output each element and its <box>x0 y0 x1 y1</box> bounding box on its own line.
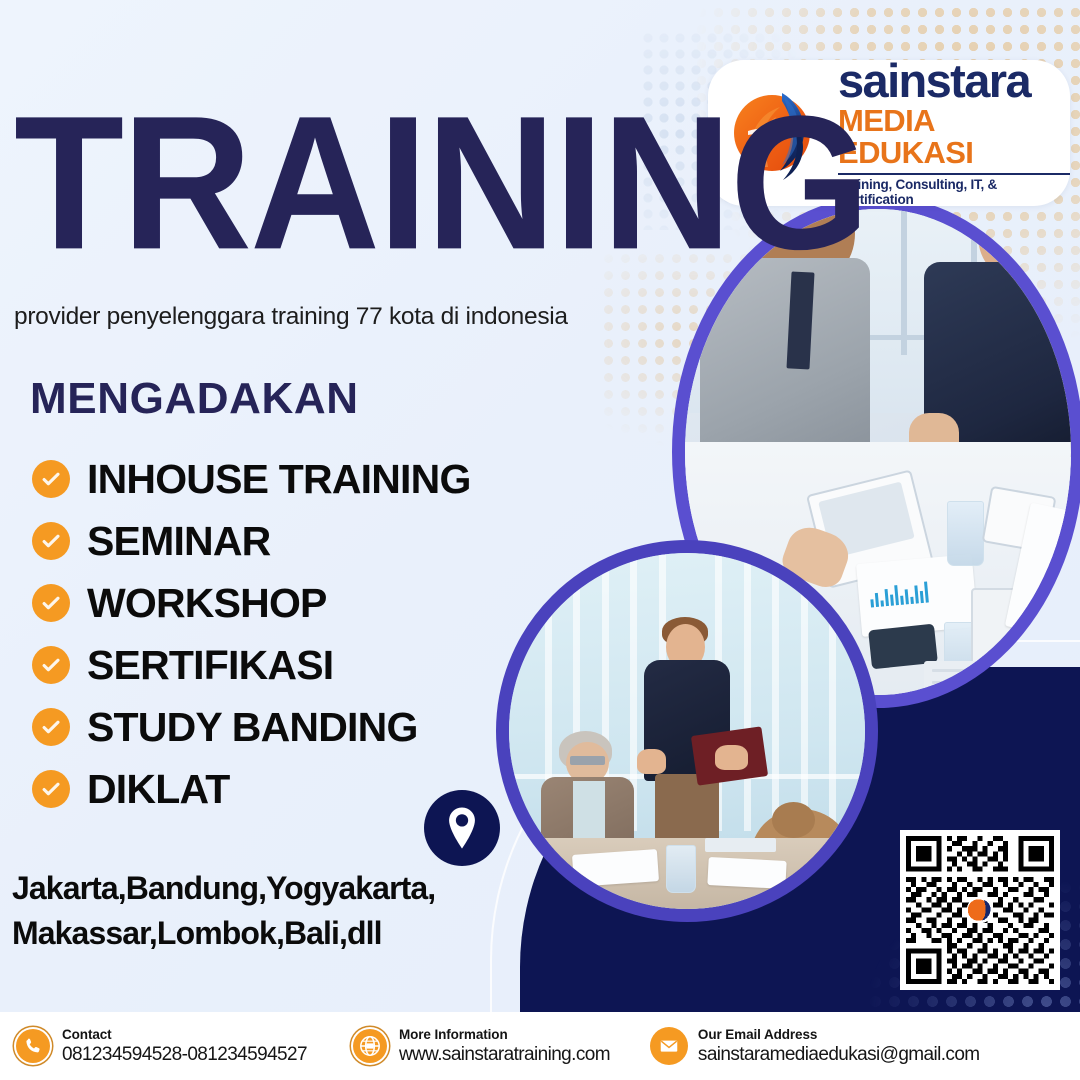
locations-line-2: Makassar,Lombok,Bali,dll <box>12 911 532 956</box>
list-item[interactable]: STUDY BANDING <box>32 696 471 758</box>
check-circle-icon <box>32 646 70 684</box>
footer-website[interactable]: More Information www.sainstaratraining.c… <box>351 1026 610 1065</box>
list-item[interactable]: INHOUSE TRAINING <box>32 448 471 510</box>
footer-contact-label: Contact <box>62 1027 112 1042</box>
list-item-label: STUDY BANDING <box>87 707 418 748</box>
footer-email-value: sainstaramediaedukasi@gmail.com <box>698 1044 980 1065</box>
locations-line-1: Jakarta,Bandung,Yogyakarta, <box>12 866 532 911</box>
envelope-icon <box>650 1027 688 1065</box>
check-circle-icon <box>32 522 70 560</box>
footer-email[interactable]: Our Email Address sainstaramediaedukasi@… <box>650 1026 980 1065</box>
list-item-label: WORKSHOP <box>87 583 327 624</box>
footer-contact-bar: Contact 081234594528-081234594527 More I… <box>0 1012 1080 1080</box>
list-item[interactable]: WORKSHOP <box>32 572 471 634</box>
check-circle-icon <box>32 584 70 622</box>
footer-website-label: More Information <box>399 1027 508 1042</box>
list-item-label: INHOUSE TRAINING <box>87 459 471 500</box>
logo-name-sub: MEDIA EDUKASI <box>838 105 1070 170</box>
page-subtitle: provider penyelenggara training 77 kota … <box>14 303 568 331</box>
check-circle-icon <box>32 708 70 746</box>
page-title: TRAINING <box>14 96 868 271</box>
logo-divider <box>838 173 1070 176</box>
list-item-label: DIKLAT <box>87 769 229 810</box>
footer-contact-phone[interactable]: Contact 081234594528-081234594527 <box>14 1026 307 1065</box>
list-item-label: SERTIFIKASI <box>87 645 333 686</box>
offer-list: INHOUSE TRAINING SEMINAR WORKSHOP SERTIF… <box>32 448 471 820</box>
phone-icon <box>14 1027 52 1065</box>
list-item[interactable]: DIKLAT <box>32 758 471 820</box>
logo-name-main: sainstara <box>838 59 1070 104</box>
qr-code-icon[interactable] <box>900 830 1060 990</box>
check-circle-icon <box>32 770 70 808</box>
check-circle-icon <box>32 460 70 498</box>
footer-website-value: www.sainstaratraining.com <box>399 1044 610 1065</box>
footer-contact-value: 081234594528-081234594527 <box>62 1044 307 1065</box>
training-presentation-photo <box>496 540 878 922</box>
footer-email-label: Our Email Address <box>698 1027 817 1042</box>
locations-text: Jakarta,Bandung,Yogyakarta, Makassar,Lom… <box>12 866 532 957</box>
list-item[interactable]: SERTIFIKASI <box>32 634 471 696</box>
map-pin-icon <box>424 790 500 866</box>
poster-canvas: sainstara MEDIA EDUKASI Training, Consul… <box>0 0 1080 1080</box>
list-item-label: SEMINAR <box>87 521 270 562</box>
offer-section-title: MENGADAKAN <box>30 374 359 424</box>
globe-icon <box>351 1027 389 1065</box>
logo-tagline: Training, Consulting, IT, & Certificatio… <box>838 177 1070 207</box>
list-item[interactable]: SEMINAR <box>32 510 471 572</box>
